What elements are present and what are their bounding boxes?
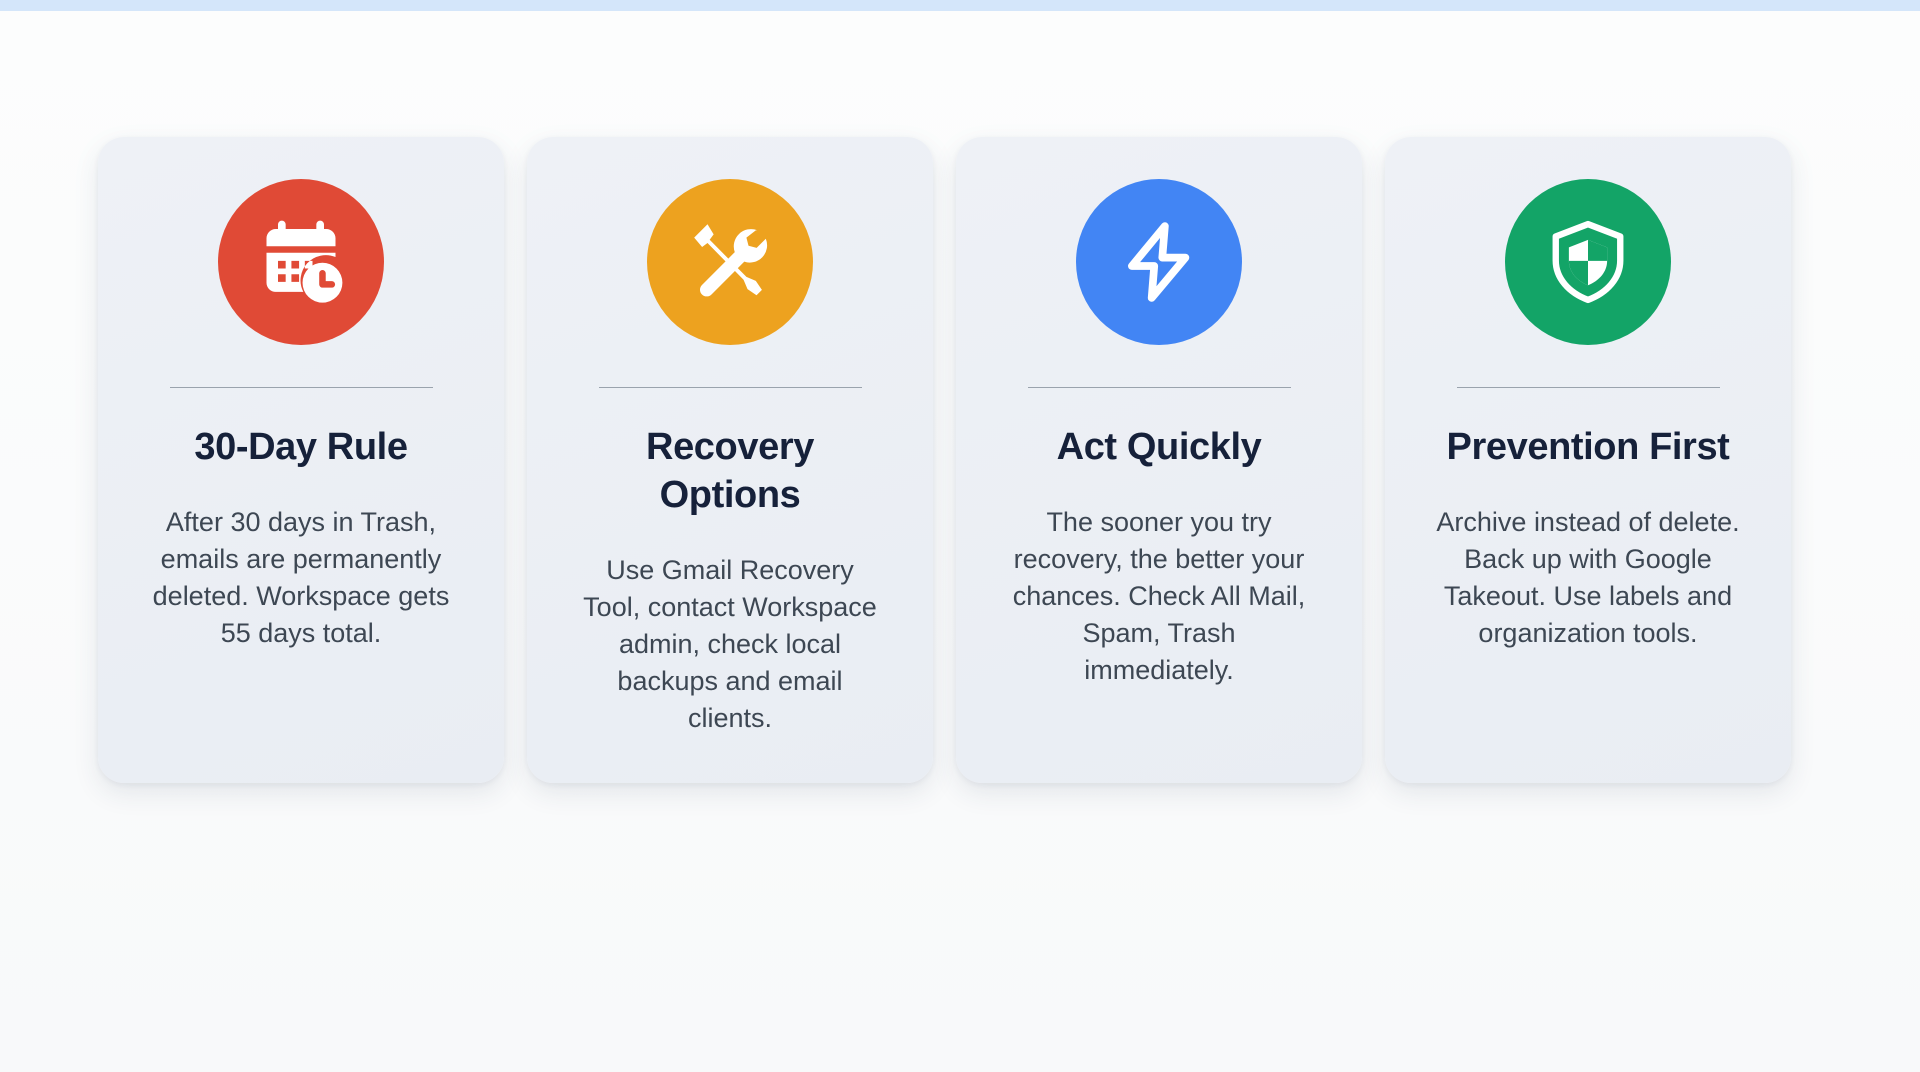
- lightning-bolt-icon: [1115, 218, 1203, 306]
- info-card-act-quickly[interactable]: Act Quickly The sooner you try recovery,…: [956, 137, 1362, 783]
- card-divider: [1457, 387, 1720, 388]
- card-title: Recovery Options: [580, 424, 880, 520]
- card-body-text: The sooner you try recovery, the better …: [1004, 504, 1314, 689]
- info-card-30-day-rule[interactable]: 30-Day Rule After 30 days in Trash, emai…: [98, 137, 504, 783]
- icon-badge-lightning: [1076, 179, 1242, 345]
- card-title: 30-Day Rule: [194, 424, 407, 472]
- card-title: Act Quickly: [1057, 424, 1262, 472]
- card-divider: [1028, 387, 1291, 388]
- card-body-text: After 30 days in Trash, emails are perma…: [146, 504, 456, 652]
- card-divider: [170, 387, 433, 388]
- tools-icon: [684, 216, 776, 308]
- info-card-row: 30-Day Rule After 30 days in Trash, emai…: [98, 137, 1840, 783]
- card-body-text: Use Gmail Recovery Tool, contact Workspa…: [575, 552, 885, 737]
- calendar-clock-icon: [255, 216, 347, 308]
- icon-badge-tools: [647, 179, 813, 345]
- info-card-recovery-options[interactable]: Recovery Options Use Gmail Recovery Tool…: [527, 137, 933, 783]
- info-card-prevention-first[interactable]: Prevention First Archive instead of dele…: [1385, 137, 1791, 783]
- icon-badge-shield: [1505, 179, 1671, 345]
- card-body-text: Archive instead of delete. Back up with …: [1433, 504, 1743, 652]
- shield-icon: [1543, 217, 1633, 307]
- card-title: Prevention First: [1447, 424, 1730, 472]
- card-divider: [599, 387, 862, 388]
- top-accent-band: [0, 0, 1920, 11]
- icon-badge-calendar-clock: [218, 179, 384, 345]
